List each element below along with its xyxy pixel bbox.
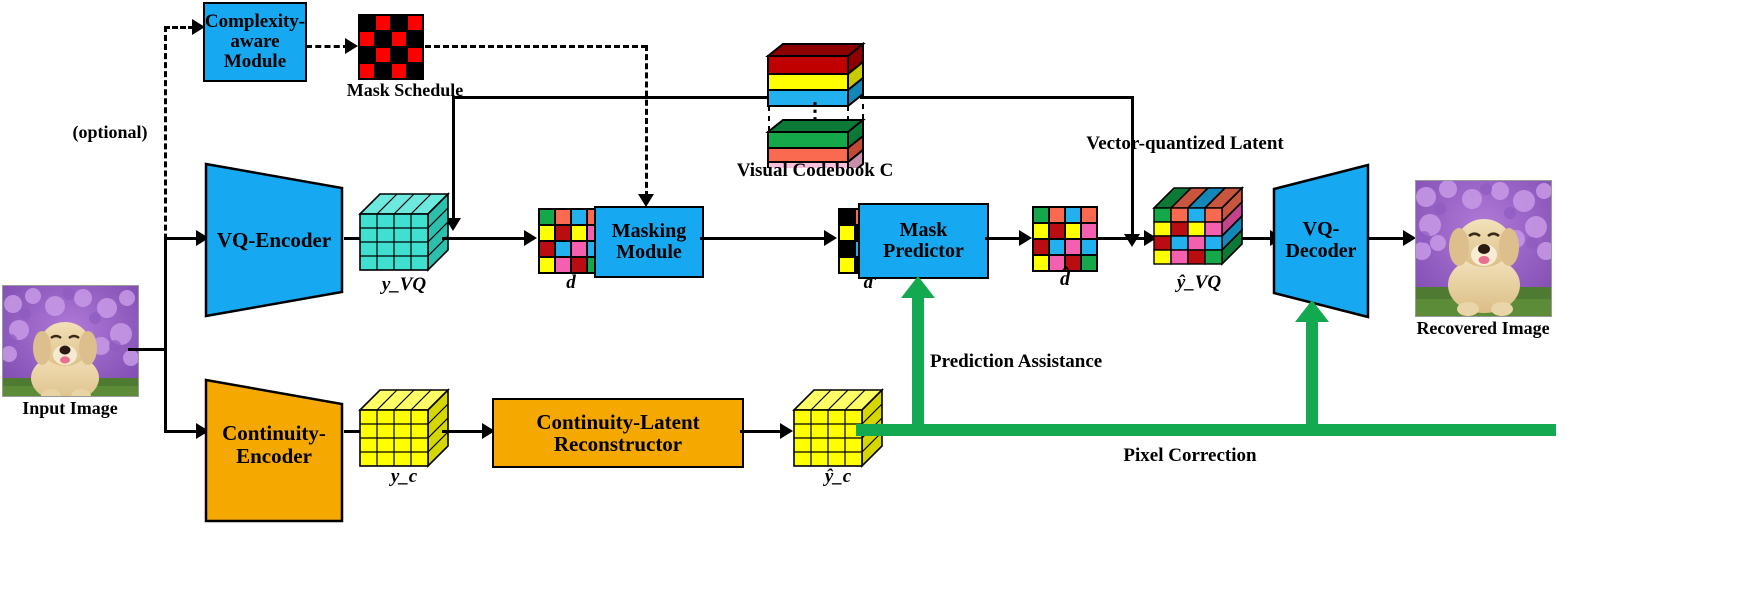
vector-quantized-latent-label: Vector-quantized Latent (1030, 133, 1340, 155)
pixel-correction-label: Pixel Correction (1070, 445, 1310, 467)
d-hat-label: d̂ (1032, 268, 1098, 291)
grid-cell (1065, 223, 1081, 239)
complexity-aware-module[interactable]: Complexity- aware Module (203, 2, 307, 82)
visual-codebook: ⋮ (760, 38, 870, 173)
continuity-latent-reconstructor-line-1: Continuity-Latent (536, 411, 699, 433)
grid-cell (571, 257, 587, 273)
mask-predictor[interactable]: Mask Predictor (858, 203, 989, 279)
grid-cell (1049, 207, 1065, 223)
grid-cell (391, 47, 407, 63)
mask-predictor-line-1: Mask (883, 220, 964, 241)
arrowhead-predictor-to-dhat (1019, 230, 1032, 246)
y-vq-label: y_VQ (356, 274, 452, 296)
grid-cell (555, 241, 571, 257)
grid-cell (407, 31, 423, 47)
grid-cell (571, 241, 587, 257)
input-image-label: Input Image (0, 398, 140, 419)
vq-encoder[interactable]: VQ-Encoder (204, 162, 344, 318)
grid-cell (1033, 207, 1049, 223)
grid-cell (375, 63, 391, 79)
recovered-image (1415, 180, 1552, 317)
y-vq-cube (356, 186, 452, 278)
input-image (2, 285, 139, 397)
grid-cell (359, 47, 375, 63)
optional-label: (optional) (60, 122, 160, 143)
vq-decoder-line-2: Decoder (1285, 241, 1356, 263)
grid-cell (359, 31, 375, 47)
complexity-aware-line-2: aware (205, 32, 305, 52)
architecture-diagram: Complexity- aware Module Mask Schedule (… (0, 0, 1758, 613)
grid-cell (1033, 239, 1049, 255)
grid-cell (1049, 239, 1065, 255)
arrowhead-green-to-decoder (1295, 300, 1329, 322)
dashed-schedule-to-masking-v (645, 45, 648, 197)
vq-decoder[interactable]: VQ- Decoder (1272, 163, 1370, 319)
grid-cell (539, 209, 555, 225)
codebook-down-to-d (452, 96, 455, 220)
vq-decoder-text: VQ- Decoder (1272, 163, 1370, 319)
vq-encoder-label: VQ-Encoder (204, 162, 344, 318)
grid-cell (407, 47, 423, 63)
grid-cell (1081, 207, 1097, 223)
complexity-aware-line-1: Complexity- (205, 12, 305, 32)
continuity-encoder[interactable]: Continuity- Encoder (204, 378, 344, 523)
masking-module[interactable]: Masking Module (594, 206, 704, 278)
grid-cell (1065, 207, 1081, 223)
grid-cell (1081, 223, 1097, 239)
grid-cell (1049, 223, 1065, 239)
grid-cell (1065, 239, 1081, 255)
dashed-complexity-to-mask-schedule (306, 45, 349, 48)
grid-cell (391, 31, 407, 47)
continuity-latent-reconstructor-line-2: Reconstructor (536, 433, 699, 455)
visual-codebook-symbol: C (880, 160, 894, 181)
grid-cell (571, 209, 587, 225)
codebook-ellipsis: ⋮ (804, 100, 826, 122)
optional-dashed-to-complexity (164, 26, 194, 29)
grid-cell (555, 209, 571, 225)
masking-module-line-1: Masking (612, 221, 686, 242)
grid-cell (839, 209, 855, 225)
codebook-bus-left (452, 96, 768, 99)
y-vq-hat-label: ŷ_VQ (1146, 272, 1252, 294)
codebook-down-to-yvqhat (1131, 96, 1134, 236)
grid-cell (375, 47, 391, 63)
codebook-bus-right (860, 96, 1134, 99)
y-vq-hat-cube (1150, 180, 1250, 278)
arrowhead-masking-to-dprime (824, 230, 837, 246)
continuity-encoder-text: Continuity- Encoder (204, 378, 344, 523)
grid-cell (375, 31, 391, 47)
green-up-to-decoder (1306, 320, 1318, 428)
input-split-vertical (164, 237, 167, 432)
codebook-top-slabs (768, 44, 863, 106)
vq-decoder-line-1: VQ- (1285, 219, 1356, 241)
y-c-cube (356, 382, 452, 474)
continuity-latent-reconstructor[interactable]: Continuity-Latent Reconstructor (492, 398, 744, 468)
grid-cell (1033, 223, 1049, 239)
grid-cell (1081, 239, 1097, 255)
grid-cell (571, 225, 587, 241)
arrowhead-yvq-to-d (524, 230, 537, 246)
masking-to-dprime (700, 237, 832, 240)
grid-cell (407, 15, 423, 31)
masking-module-line-2: Module (612, 242, 686, 263)
input-to-split (128, 348, 166, 351)
grid-cell (539, 257, 555, 273)
y-c-label: y_c (356, 466, 452, 488)
grid-cell (839, 225, 855, 241)
green-up-to-predictor (912, 296, 924, 428)
grid-cell (555, 225, 571, 241)
grid-cell (539, 241, 555, 257)
grid-cell (375, 15, 391, 31)
green-bus-horizontal (856, 424, 1556, 436)
dashed-schedule-to-masking-h (425, 45, 647, 48)
arrowhead-green-to-predictor (901, 276, 935, 298)
complexity-aware-line-3: Module (205, 52, 305, 72)
prediction-assistance-label: Prediction Assistance (930, 351, 1180, 373)
grid-cell (839, 257, 855, 273)
grid-cell (391, 63, 407, 79)
visual-codebook-label: Visual Codebook C (700, 160, 930, 182)
grid-cell (407, 63, 423, 79)
visual-codebook-prefix: Visual Codebook (737, 160, 880, 181)
grid-cell (555, 257, 571, 273)
arrowhead-codebook-to-yvqhat (1124, 234, 1140, 247)
grid-cell (839, 241, 855, 257)
y-c-hat-label: ŷ_c (788, 466, 888, 488)
continuity-encoder-line-1: Continuity- (222, 422, 326, 445)
yvq-to-d (442, 237, 534, 240)
grid-cell (391, 15, 407, 31)
d-hat-grid (1032, 206, 1098, 272)
grid-cell (539, 225, 555, 241)
grid-cell (359, 63, 375, 79)
grid-cell (359, 15, 375, 31)
mask-schedule-grid (358, 14, 424, 80)
recovered-image-label: Recovered Image (1398, 318, 1568, 339)
arrowhead-to-mask-schedule (345, 38, 358, 54)
mask-predictor-line-2: Predictor (883, 241, 964, 262)
continuity-encoder-line-2: Encoder (222, 445, 326, 468)
